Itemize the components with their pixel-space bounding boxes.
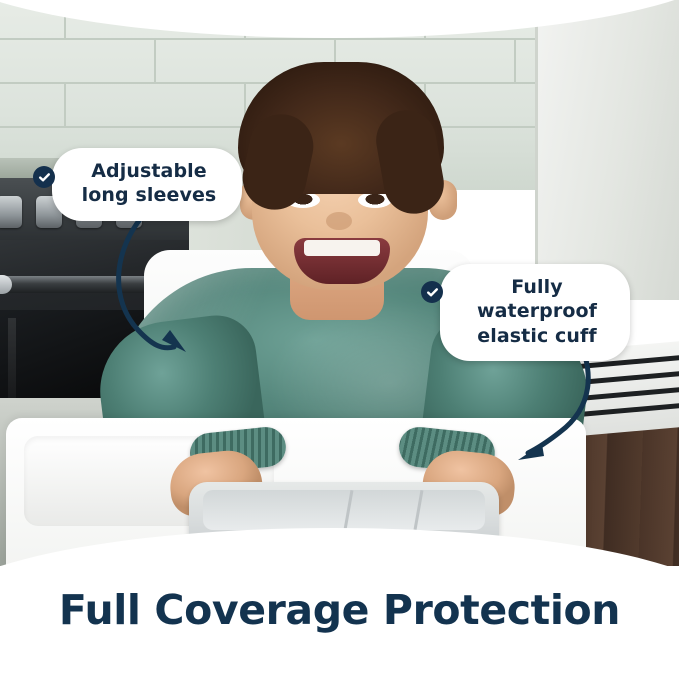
- child-nose: [326, 212, 352, 230]
- check-circle-icon: [33, 166, 55, 188]
- child-hair: [238, 62, 444, 194]
- child-mouth: [294, 238, 390, 284]
- kitchen-cabinet-right: [535, 0, 679, 300]
- callout-label: Adjustable long sleeves: [78, 159, 220, 208]
- product-infographic: Adjustable long sleeves Fully waterproof…: [0, 0, 679, 679]
- callout-adjustable-long-sleeves[interactable]: Adjustable long sleeves: [52, 148, 242, 221]
- callout-fully-waterproof-elastic-cuff[interactable]: Fully waterproof elastic cuff: [440, 264, 630, 361]
- page-headline: Full Coverage Protection: [0, 586, 679, 634]
- callout-label: Fully waterproof elastic cuff: [466, 275, 608, 348]
- check-circle-icon: [421, 281, 443, 303]
